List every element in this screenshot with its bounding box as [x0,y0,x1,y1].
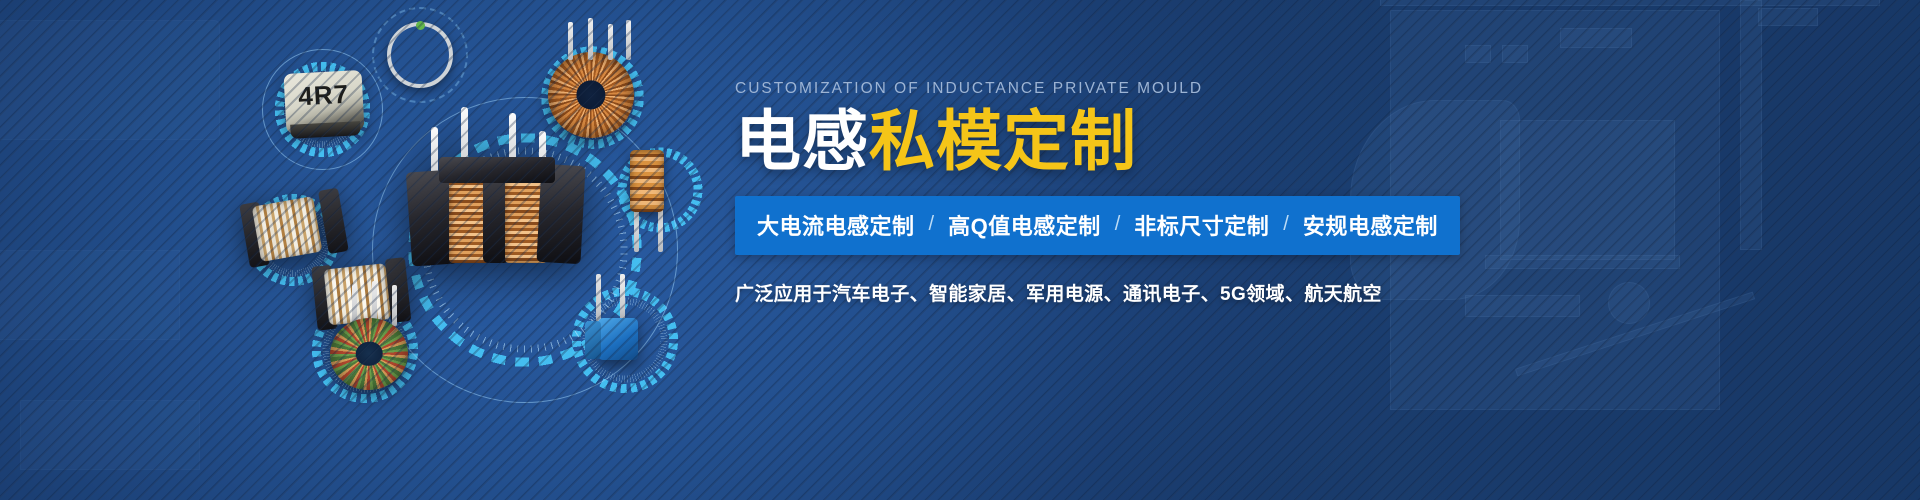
feature-item-3: 非标尺寸定制 [1134,209,1269,241]
feature-separator-3: / [1269,213,1303,236]
component-toroid-green [330,318,408,390]
component-power-inductor-cluster [405,105,590,270]
banner-headline: 电感私模定制 [735,107,1435,177]
component-common-mode-choke-left [248,196,338,260]
headline-part-white: 电感 [735,104,869,178]
wire-loop-icon [387,22,453,88]
feature-item-2: 高Q值电感定制 [948,209,1101,241]
choke-body-left [243,189,343,268]
feature-separator-2: / [1101,213,1135,236]
feature-list: 大电流电感定制 / 高Q值电感定制 / 非标尺寸定制 / 安规电感定制 [757,209,1438,241]
headline-part-gold: 私模定制 [869,104,1137,178]
smd-inductor-body: 4R7 [283,70,364,134]
bobbin-choke-body [630,150,664,212]
feature-item-4: 安规电感定制 [1303,209,1438,241]
banner-eyebrow-english: CUSTOMIZATION OF INDUCTANCE PRIVATE MOUL… [735,80,1435,98]
blue-radial-body [598,318,638,360]
smd-inductor-label: 4R7 [284,78,364,113]
toroid-green-body [326,314,411,394]
promo-banner: 4R7 [0,0,1920,500]
component-common-mode-choke-bottom [318,262,402,320]
banner-text-block: CUSTOMIZATION OF INDUCTANCE PRIVATE MOUL… [735,80,1435,306]
cluster-core-top [439,157,555,183]
feature-highlight-bar: 大电流电感定制 / 高Q值电感定制 / 非标尺寸定制 / 安规电感定制 [735,196,1460,255]
feature-separator-1: / [915,213,949,236]
feature-item-1: 大电流电感定制 [757,209,915,241]
component-smd-inductor-4r7: 4R7 [285,72,363,132]
banner-description: 广泛应用于汽车电子、智能家居、军用电源、通讯电子、5G领域、航天航空 [735,279,1435,306]
